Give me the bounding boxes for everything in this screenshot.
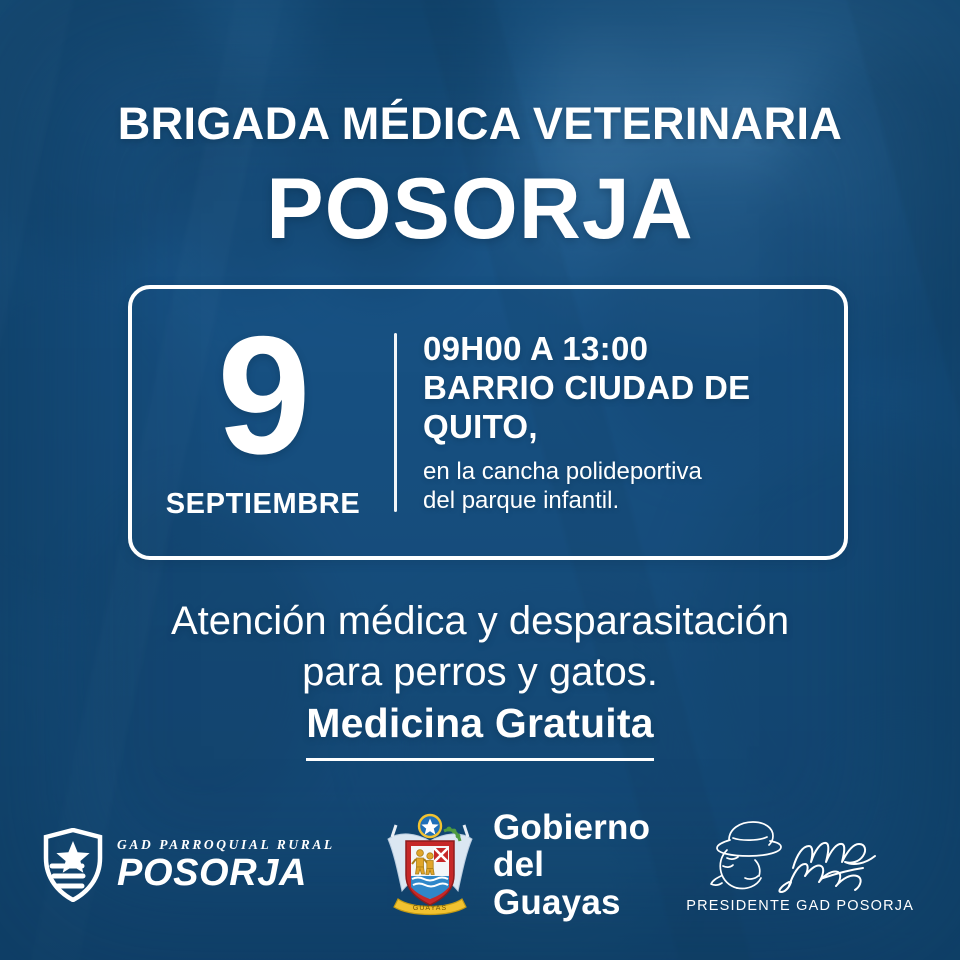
logo-gobierno-line1: Gobierno (493, 809, 650, 846)
event-info-box: 9 SEPTIEMBRE 09H00 A 13:00 BARRIO CIUDAD… (128, 285, 848, 560)
event-time: 09H00 A 13:00 (423, 330, 828, 369)
service-tagline-line2: para perros y gatos. (0, 647, 960, 698)
logo-caption: PRESIDENTE GAD POSORJA (686, 898, 914, 914)
event-details-block: 09H00 A 13:00 BARRIO CIUDAD DE QUITO, en… (397, 289, 844, 556)
event-detail-line1: en la cancha polideportiva (423, 457, 828, 486)
logo-presidente-signature: PRESIDENTE GAD POSORJA (650, 816, 950, 914)
free-service-badge: Medicina Gratuita (306, 700, 653, 761)
logo-gobierno-line2: del Guayas (493, 846, 650, 920)
logo-posorja-name: POSORJA (117, 854, 335, 892)
sponsor-logo-row: GAD PARROQUIAL RURAL POSORJA (0, 806, 960, 924)
event-day-number: 9 (217, 330, 308, 461)
man-with-hat-signature-icon (693, 816, 907, 894)
guayas-coat-of-arms-icon: GUAYAS (382, 813, 478, 917)
poster-headline: BRIGADA MÉDICA VETERINARIA (0, 98, 960, 150)
page-title: POSORJA (0, 166, 960, 252)
service-tagline: Atención médica y desparasitación para p… (0, 596, 960, 698)
free-service-wrap: Medicina Gratuita (0, 700, 960, 761)
shield-star-icon (42, 828, 104, 902)
logo-eyebrow-text: GAD PARROQUIAL RURAL (117, 838, 335, 852)
event-detail-line2: del parque infantil. (423, 486, 828, 515)
service-tagline-line1: Atención médica y desparasitación (0, 596, 960, 647)
event-place-line2: QUITO, (423, 408, 828, 447)
event-month-label: SEPTIEMBRE (166, 488, 361, 521)
event-place-line1: BARRIO CIUDAD DE (423, 369, 828, 408)
svg-text:GUAYAS: GUAYAS (413, 905, 447, 912)
poster-canvas: BRIGADA MÉDICA VETERINARIA POSORJA 9 SEP… (0, 0, 960, 960)
logo-gad-posorja: GAD PARROQUIAL RURAL POSORJA (42, 828, 382, 902)
poster-content: BRIGADA MÉDICA VETERINARIA POSORJA 9 SEP… (0, 0, 960, 960)
event-date-block: 9 SEPTIEMBRE (132, 289, 394, 556)
logo-gobierno-guayas: GUAYAS Gobierno del Guayas (382, 809, 650, 920)
vertical-divider (394, 333, 397, 512)
